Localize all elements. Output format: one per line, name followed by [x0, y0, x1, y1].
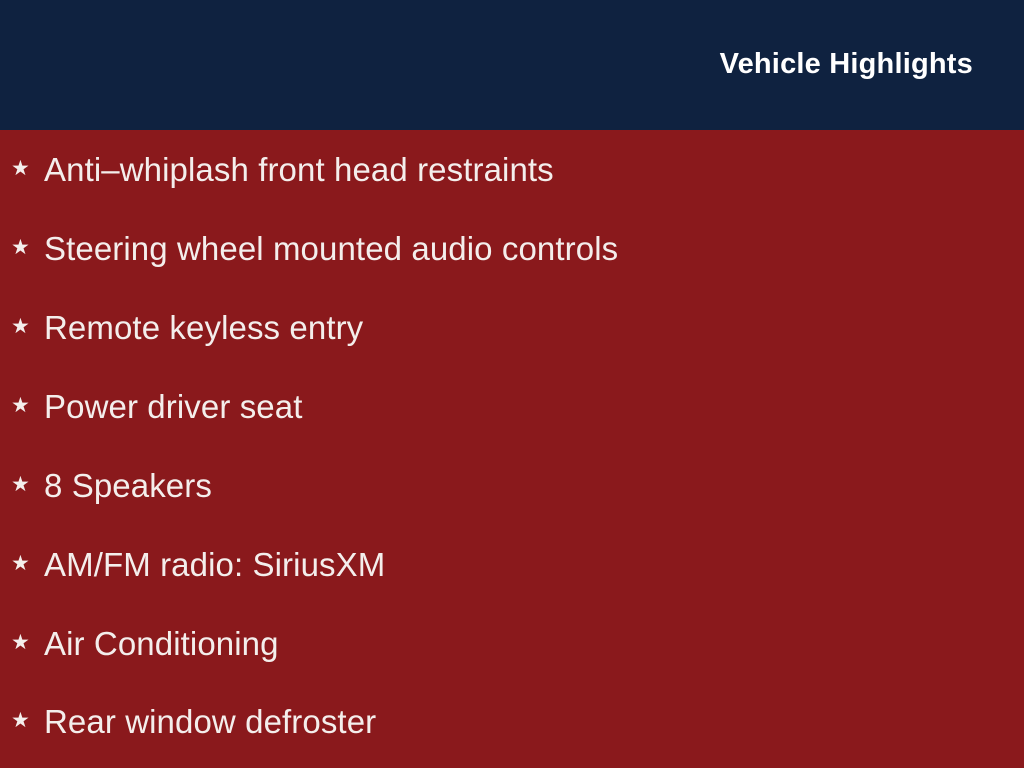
list-item-label: Remote keyless entry — [44, 308, 363, 348]
list-item-label: Anti–whiplash front head restraints — [44, 150, 554, 190]
star-icon: ★ — [11, 710, 33, 732]
vehicle-highlights-slide: Vehicle Highlights ★ Anti–whiplash front… — [0, 0, 1024, 768]
star-icon: ★ — [11, 316, 33, 338]
list-item-label: 8 Speakers — [44, 466, 212, 506]
list-item-label: Rear window defroster — [44, 702, 376, 742]
list-item: ★ Air Conditioning — [0, 622, 1024, 666]
star-icon: ★ — [11, 395, 33, 417]
star-icon: ★ — [11, 553, 33, 575]
star-icon: ★ — [11, 474, 33, 496]
list-item-label: Power driver seat — [44, 387, 302, 427]
star-icon: ★ — [11, 632, 33, 654]
list-item-label: Steering wheel mounted audio controls — [44, 229, 618, 269]
list-item: ★ Steering wheel mounted audio controls — [0, 227, 1024, 271]
list-item-label: AM/FM radio: SiriusXM — [44, 545, 385, 585]
list-item: ★ AM/FM radio: SiriusXM — [0, 543, 1024, 587]
list-item: ★ Remote keyless entry — [0, 306, 1024, 350]
list-item-label: Air Conditioning — [44, 624, 279, 664]
star-icon: ★ — [11, 237, 33, 259]
list-item: ★ 8 Speakers — [0, 464, 1024, 508]
header-band: Vehicle Highlights — [0, 0, 1024, 130]
list-item: ★ Power driver seat — [0, 385, 1024, 429]
list-item: ★ Anti–whiplash front head restraints — [0, 148, 1024, 192]
page-title: Vehicle Highlights — [720, 45, 973, 83]
highlights-panel: ★ Anti–whiplash front head restraints ★ … — [0, 130, 1024, 768]
star-icon: ★ — [11, 158, 33, 180]
list-item: ★ Rear window defroster — [0, 700, 1024, 744]
